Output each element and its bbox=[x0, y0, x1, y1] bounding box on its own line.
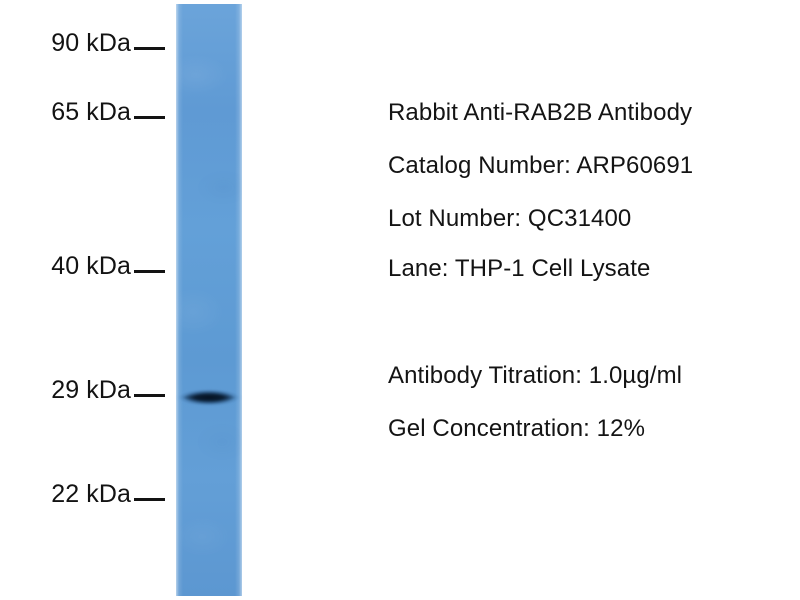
mw-marker-label: 22 kDa bbox=[51, 480, 131, 509]
info-lot-number: Lot Number: QC31400 bbox=[388, 205, 631, 233]
mw-marker-label: 90 kDa bbox=[51, 29, 131, 58]
mw-marker-40: 40 kDa bbox=[51, 252, 165, 281]
info-gel-concentration: Gel Concentration: 12% bbox=[388, 415, 645, 443]
mw-tick-icon bbox=[134, 498, 165, 501]
mw-tick-icon bbox=[134, 116, 165, 119]
mw-tick-icon bbox=[134, 47, 165, 50]
mw-tick-icon bbox=[134, 270, 165, 273]
mw-tick-icon bbox=[134, 394, 165, 397]
info-catalog-number: Catalog Number: ARP60691 bbox=[388, 152, 693, 180]
mw-marker-90: 90 kDa bbox=[51, 29, 165, 58]
info-product-name: Rabbit Anti-RAB2B Antibody bbox=[388, 99, 692, 127]
blot-info-panel: Rabbit Anti-RAB2B Antibody Catalog Numbe… bbox=[388, 0, 800, 600]
gel-lane-thp1 bbox=[176, 4, 242, 596]
protein-band-rab2b-core bbox=[182, 393, 236, 402]
mw-marker-label: 29 kDa bbox=[51, 376, 131, 405]
western-blot-figure: 90 kDa 65 kDa 40 kDa 29 kDa 22 kDa Rabbi… bbox=[0, 0, 800, 600]
mw-marker-65: 65 kDa bbox=[51, 98, 165, 127]
mw-marker-label: 65 kDa bbox=[51, 98, 131, 127]
info-lane-sample: Lane: THP-1 Cell Lysate bbox=[388, 255, 650, 283]
gel-lane-texture bbox=[176, 4, 242, 596]
mw-marker-29: 29 kDa bbox=[51, 376, 165, 405]
mw-marker-22: 22 kDa bbox=[51, 480, 165, 509]
molecular-weight-ladder: 90 kDa 65 kDa 40 kDa 29 kDa 22 kDa bbox=[0, 0, 175, 600]
info-antibody-titration: Antibody Titration: 1.0µg/ml bbox=[388, 362, 682, 390]
mw-marker-label: 40 kDa bbox=[51, 252, 131, 281]
